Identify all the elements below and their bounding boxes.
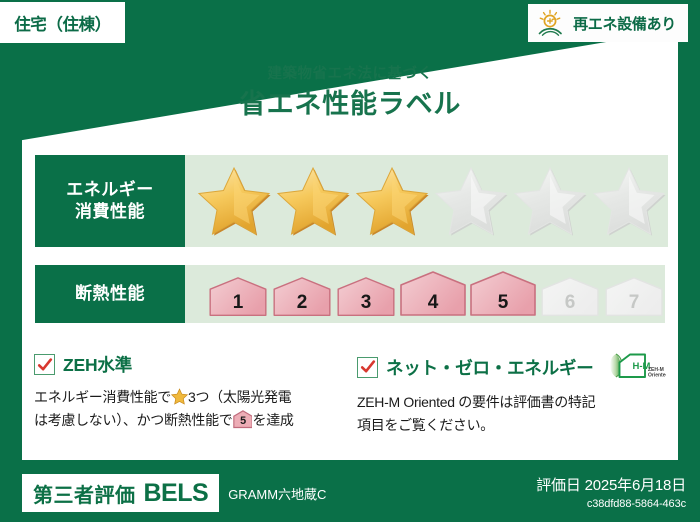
- star-rating: [195, 164, 668, 238]
- zeh-body-text-2: 3つ（太陽光発電: [188, 389, 291, 405]
- insulation-house-filled: 3: [335, 277, 397, 317]
- star-empty-icon: [511, 164, 589, 238]
- energy-row-body: [185, 155, 668, 247]
- house-type-tag: 住宅（住棟）: [0, 2, 125, 43]
- label-title: 省エネ性能ラベル: [0, 82, 700, 121]
- star-filled-icon: [195, 164, 273, 238]
- insulation-level-number: 3: [335, 293, 397, 312]
- net-zero-energy-column: ネット・ゼロ・エネルギー H-M: [357, 352, 662, 436]
- certificate-id: c38dfd88-5864-463c: [536, 498, 686, 510]
- property-name: GRAMM六地蔵C: [228, 484, 326, 503]
- star-filled-icon: [353, 164, 431, 238]
- insulation-level-number: 7: [603, 293, 665, 312]
- zeh-m-oriented-logo-icon: H-M ZEH-M Oriented: [602, 352, 666, 382]
- energy-row-label-line1: エネルギー: [66, 179, 154, 201]
- net-zero-heading: ネット・ゼロ・エネルギー H-M: [357, 352, 662, 382]
- zeh-standard-title: ZEH水準: [63, 352, 132, 377]
- net-zero-checkbox: [357, 357, 378, 378]
- renewable-badge-label: 再エネ設備あり: [573, 13, 676, 34]
- star-filled-icon: [274, 164, 352, 238]
- energy-performance-row: エネルギー 消費性能: [35, 155, 665, 247]
- insulation-level-number: 6: [539, 293, 601, 312]
- check-icon: [37, 357, 53, 373]
- renewable-energy-badge: 再エネ設備あり: [528, 4, 688, 42]
- bels-en-label: BELS: [144, 479, 209, 508]
- insulation-house-empty: 7: [603, 277, 665, 317]
- bels-logo-box: 第三者評価 BELS: [22, 474, 219, 512]
- energy-row-label-line2: 消費性能: [75, 201, 145, 223]
- bels-footer: 第三者評価 BELS GRAMM六地蔵C: [22, 474, 326, 512]
- svg-text:5: 5: [240, 416, 246, 428]
- insulation-row-label: 断熱性能: [35, 265, 185, 323]
- insulation-performance-row: 断熱性能 1234567: [35, 265, 665, 323]
- zeh-standard-column: ZEH水準 エネルギー消費性能で3つ（太陽光発電 は考慮しない）、かつ断熱性能で…: [34, 352, 339, 436]
- energy-performance-label: 住宅（住棟） 再エネ設備あり 建築物省エネ法に基づく 省エネ性能ラベル: [0, 0, 700, 522]
- insulation-house-filled: 4: [399, 271, 467, 317]
- zeh-body-text-4: を達成: [253, 412, 294, 428]
- insulation-house-filled: 5: [469, 271, 537, 317]
- insulation-house-empty: 6: [539, 277, 601, 317]
- inline-house-icon: 5: [233, 410, 253, 428]
- insulation-row-label-line1: 断熱性能: [75, 283, 145, 305]
- evaluation-info: 評価日 2025年6月18日 c38dfd88-5864-463c: [536, 474, 686, 510]
- house-type-label: 住宅（住棟）: [14, 11, 111, 35]
- zeh-standard-checkbox: [34, 354, 55, 375]
- info-section: ZEH水準 エネルギー消費性能で3つ（太陽光発電 は考慮しない）、かつ断熱性能で…: [34, 352, 668, 436]
- zeh-standard-heading: ZEH水準: [34, 352, 339, 377]
- insulation-level-number: 1: [207, 293, 269, 312]
- insulation-level-number: 2: [271, 293, 333, 312]
- insulation-level-number: 4: [399, 293, 467, 312]
- svg-text:Oriented: Oriented: [648, 373, 666, 379]
- label-subtitle: 建築物省エネ法に基づく: [0, 62, 700, 83]
- energy-row-label: エネルギー 消費性能: [35, 155, 185, 247]
- check-icon: [360, 359, 376, 375]
- net-zero-body-line2: 項目をご覧ください。: [357, 414, 662, 437]
- zeh-body-text-3: は考慮しない）、かつ断熱性能で: [34, 412, 233, 428]
- insulation-row-body: 1234567: [185, 265, 665, 323]
- zeh-standard-body: エネルギー消費性能で3つ（太陽光発電 は考慮しない）、かつ断熱性能で5を達成: [34, 386, 339, 431]
- evaluation-date: 評価日 2025年6月18日: [536, 474, 686, 495]
- net-zero-body-line1: ZEH-M Oriented の要件は評価書の特記: [357, 391, 662, 414]
- zeh-body-text-1: エネルギー消費性能で: [34, 389, 171, 405]
- net-zero-title: ネット・ゼロ・エネルギー: [386, 355, 594, 380]
- sun-solar-icon: [536, 9, 566, 37]
- insulation-house-filled: 1: [207, 277, 269, 317]
- star-empty-icon: [590, 164, 668, 238]
- insulation-house-filled: 2: [271, 277, 333, 317]
- net-zero-body: ZEH-M Oriented の要件は評価書の特記 項目をご覧ください。: [357, 391, 662, 436]
- star-empty-icon: [432, 164, 510, 238]
- inline-star-icon: [171, 388, 188, 405]
- insulation-level-number: 5: [469, 293, 537, 312]
- bels-jp-label: 第三者評価: [33, 479, 136, 508]
- insulation-level-scale: 1234567: [195, 271, 665, 317]
